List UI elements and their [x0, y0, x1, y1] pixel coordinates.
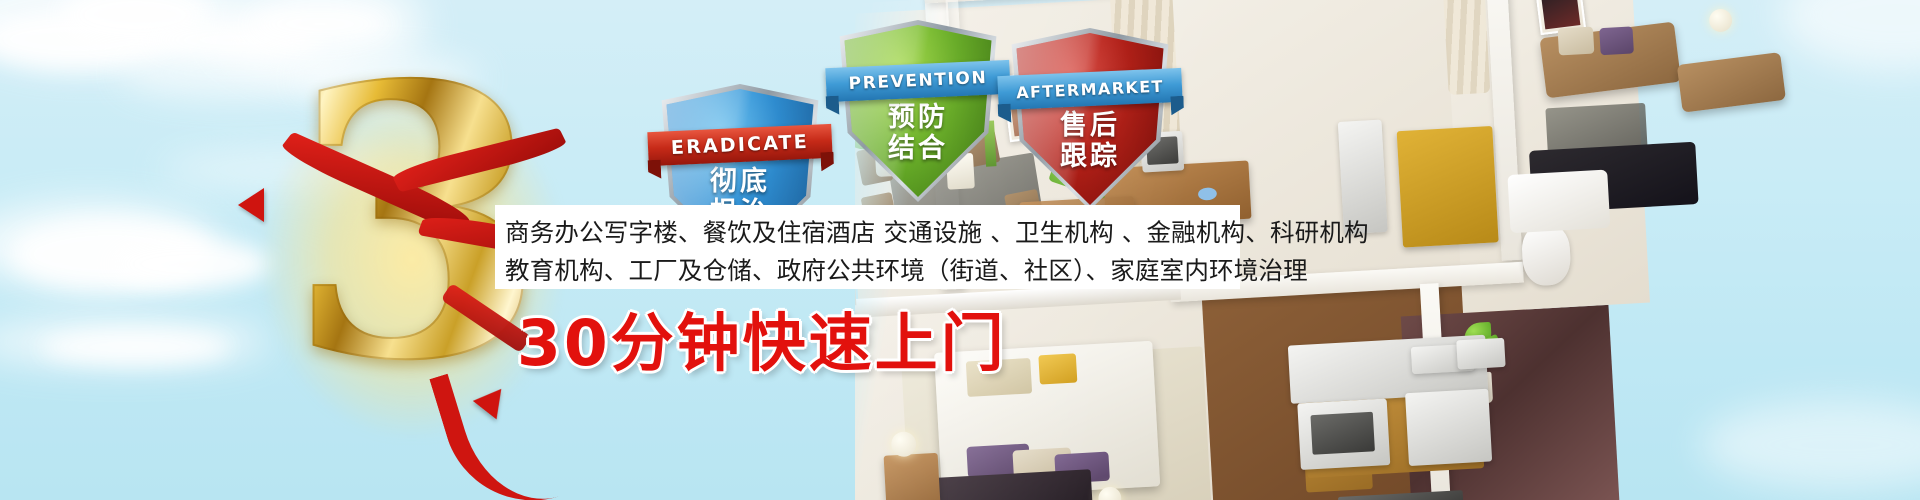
shield-chinese-line-1: 售后 [1010, 110, 1170, 141]
shield-chinese-line-2: 结合 [838, 133, 998, 164]
shield-english-label: ERADICATE [671, 131, 810, 159]
shield-english-label: PREVENTION [848, 68, 988, 94]
shield-chinese-line-1: 预防 [838, 102, 998, 133]
service-scope-panel: 商务办公写字楼、餐饮及住宿酒店 交通设施 、卫生机构 、金融机构、科研机构 教育… [495, 205, 1240, 289]
promotional-banner: 3 彻底 根治 ERADICATE 预防 结合 PR [0, 0, 1920, 500]
shield-badge-prevention: 预防 结合 PREVENTION [838, 20, 998, 202]
shield-chinese-text: 预防 结合 [838, 102, 998, 165]
shield-english-label: AFTERMARKET [1016, 76, 1164, 102]
service-scope-line-1: 商务办公写字楼、餐饮及住宿酒店 交通设施 、卫生机构 、金融机构、科研机构 [505, 214, 1240, 252]
shield-chinese-text: 售后 跟踪 [1010, 110, 1170, 173]
service-scope-line-2: 教育机构、工厂及仓储、政府公共环境（街道、社区）、家庭室内环境治理 [505, 252, 1240, 290]
ribbon-arrow-left-icon [238, 188, 264, 222]
shield-chinese-line-1: 彻底 [660, 166, 820, 197]
shield-chinese-line-2: 跟踪 [1010, 141, 1170, 172]
shield-badge-aftermarket: 售后 跟踪 AFTERMARKET [1010, 28, 1170, 210]
headline-text: 30分钟快速上门 [517, 293, 1007, 384]
